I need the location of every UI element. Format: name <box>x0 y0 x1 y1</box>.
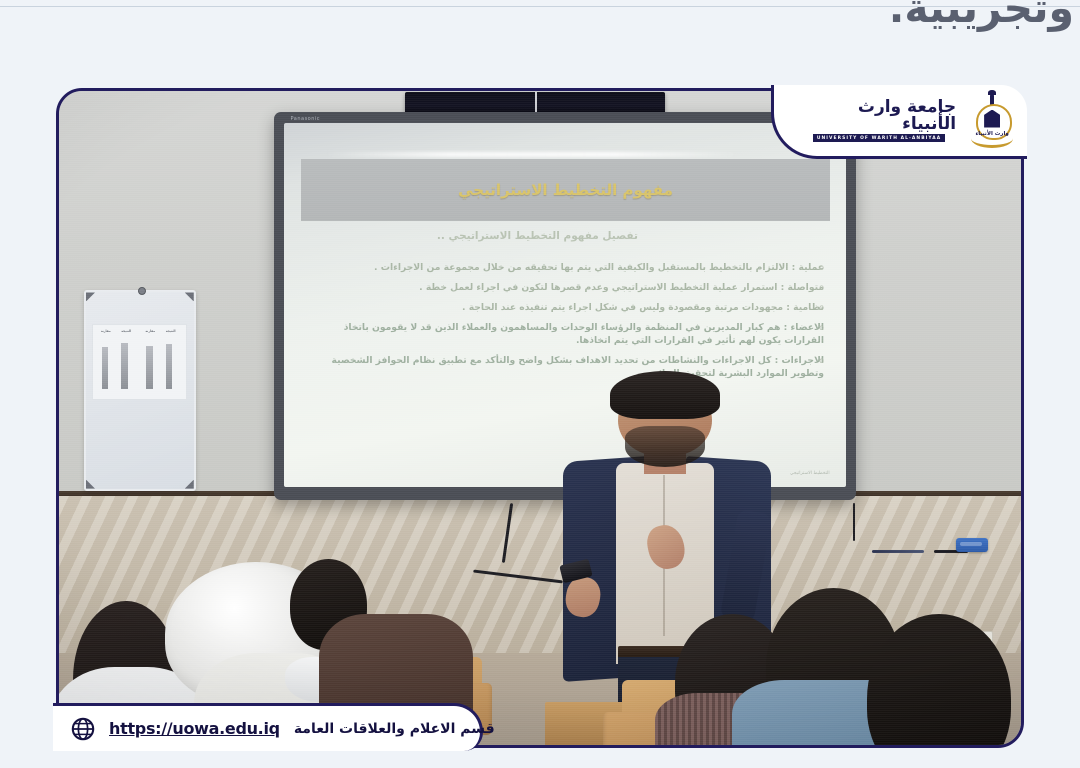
slide-subtitle: تفصيل مفهوم التخطيط الاستراتيجي .. <box>284 230 790 242</box>
bullet-marker-icon: o <box>819 354 824 357</box>
bullet-marker-icon: o <box>819 321 824 324</box>
whiteboard-corner <box>86 480 95 489</box>
bullet-marker-icon: o <box>819 261 824 264</box>
slide-title: مفهوم التخطيط الاستراتيجي <box>458 181 673 199</box>
poster-bar <box>146 346 152 389</box>
photo-frame-border: مقارنة النتيجة مقارنة النتيجة Panasonic <box>56 88 1024 748</box>
footer-contact-strip: https://uowa.edu.iq قسم الاعلام والعلاقا… <box>53 703 483 751</box>
presenter-hair <box>610 371 720 419</box>
lecture-hall-photo: مقارنة النتيجة مقارنة النتيجة Panasonic <box>59 91 1021 745</box>
poster-label: مقارنة <box>101 329 111 333</box>
slide-bullet: o نظامية : مجهودات مرتبة ومقصودة وليس في… <box>307 301 824 314</box>
seal-text-arabic: وارث الأنبياء <box>970 131 1014 137</box>
slide-bullet-text: الاجراءات : كل الاجراءات والنشاطات من تح… <box>307 354 824 380</box>
university-name-arabic: جامعة وارث الأنبياء <box>802 99 956 133</box>
top-headline: وتجريبية. <box>560 0 1080 34</box>
website-url-link[interactable]: https://uowa.edu.iq <box>109 719 280 738</box>
top-headline-text: وتجريبية. <box>560 0 1080 34</box>
whiteboard-eraser <box>956 538 988 552</box>
department-name-label: قسم الاعلام والعلاقات العامة <box>294 721 495 737</box>
whiteboard-corner <box>86 292 95 301</box>
whiteboard-marker <box>872 550 924 553</box>
whiteboard: مقارنة النتيجة مقارنة النتيجة <box>84 290 196 490</box>
poster-label: النتيجة <box>166 329 176 333</box>
presenter-beard <box>625 426 705 466</box>
whiteboard-hook-icon <box>138 287 146 295</box>
poster-bar <box>121 343 127 389</box>
university-seal-logo: وارث الأنبياء <box>970 95 1013 147</box>
slide-bullet-text: متواصلة : استمرار عملية التخطيط الاسترات… <box>419 281 824 294</box>
slide-bullet: o الاجراءات : كل الاجراءات والنشاطات من … <box>307 354 824 380</box>
whiteboard-poster: مقارنة النتيجة مقارنة النتيجة <box>92 324 187 401</box>
slide-title-bar: مفهوم التخطيط الاستراتيجي <box>301 159 829 221</box>
university-name-english: UNIVERSITY OF WARITH AL-ANBIYAA <box>813 134 945 142</box>
slide-footer-note: التخطيط الاستراتيجي <box>790 471 830 476</box>
slide-bullet: o عملية : الالتزام بالتخطيط بالمستقبل وا… <box>307 261 824 274</box>
slide-bullet: o متواصلة : استمرار عملية التخطيط الاستر… <box>307 281 824 294</box>
university-badge-panel: جامعة وارث الأنبياء UNIVERSITY OF WARITH… <box>771 85 1027 159</box>
whiteboard-corner <box>185 292 194 301</box>
photo-card: مقارنة النتيجة مقارنة النتيجة Panasonic <box>56 88 1024 748</box>
display-brand-label: Panasonic <box>290 116 320 122</box>
poster-bar <box>102 347 108 389</box>
slide-bullet-text: نظامية : مجهودات مرتبة ومقصودة وليس في ش… <box>462 301 824 314</box>
globe-icon <box>71 717 95 741</box>
slide-bullet: o الاعضاء : هم كبار المديرين في المنظمة … <box>307 321 824 347</box>
poster-label: مقارنة <box>145 329 155 333</box>
bullet-marker-icon: o <box>819 281 824 284</box>
slide-bullet-text: الاعضاء : هم كبار المديرين في المنظمة وا… <box>307 321 824 347</box>
poster-label: النتيجة <box>121 329 131 333</box>
cable <box>853 503 855 541</box>
university-wordmark-logo: جامعة وارث الأنبياء UNIVERSITY OF WARITH… <box>802 99 956 142</box>
poster-bar <box>166 344 172 389</box>
bullet-marker-icon: o <box>819 301 824 304</box>
whiteboard-corner <box>185 480 194 489</box>
slide-bullet-text: عملية : الالتزام بالتخطيط بالمستقبل والك… <box>374 261 824 274</box>
